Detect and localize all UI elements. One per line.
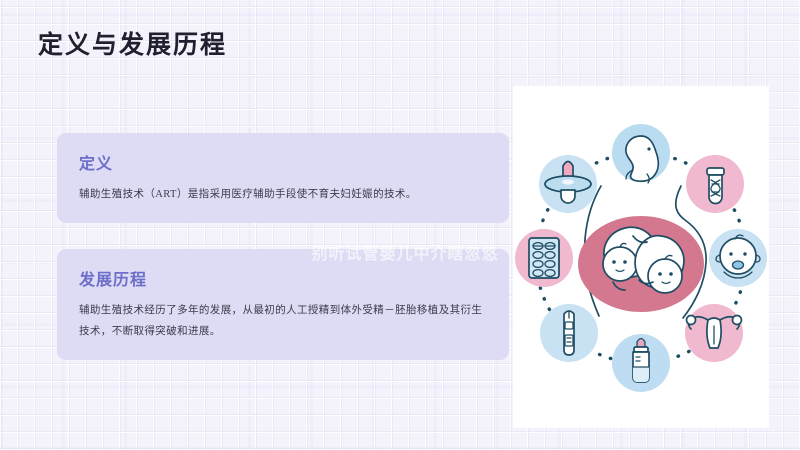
content-card-list: 定义 辅助生殖技术（ART）是指采用医疗辅助手段使不育夫妇妊娠的技术。 发展历程… xyxy=(57,133,509,360)
card-history-heading: 发展历程 xyxy=(79,266,487,290)
baby-face-icon[interactable] xyxy=(709,229,767,287)
uterus-icon[interactable] xyxy=(685,304,743,362)
slide-canvas: 定义与发展历程 定义 辅助生殖技术（ART）是指采用医疗辅助手段使不育夫妇妊娠的… xyxy=(0,0,800,450)
page-title: 定义与发展历程 xyxy=(38,30,227,63)
illustration-panel: .ln { fill:none; stroke:#1f4d63; stroke-… xyxy=(513,86,769,428)
card-definition-body: 辅助生殖技术（ART）是指采用医疗辅助手段使不育夫妇妊娠的技术。 xyxy=(79,185,487,205)
fetus-icon[interactable] xyxy=(612,124,670,183)
pill-blister-icon[interactable] xyxy=(515,229,573,287)
fertility-cycle-illustration: .ln { fill:none; stroke:#1f4d63; stroke-… xyxy=(513,86,769,428)
dna-test-tube-icon[interactable] xyxy=(686,155,744,213)
card-history: 发展历程 辅助生殖技术经历了多年的发展，从最初的人工授精到体外受精－胚胎移植及其… xyxy=(57,249,509,360)
card-definition-heading: 定义 xyxy=(79,150,487,174)
pregnancy-test-icon[interactable] xyxy=(540,304,598,362)
pacifier-icon[interactable] xyxy=(539,155,597,213)
baby-bottle-icon[interactable] xyxy=(612,334,670,392)
card-history-body: 辅助生殖技术经历了多年的发展，从最初的人工授精到体外受精－胚胎移植及其衍生技术，… xyxy=(79,301,487,342)
card-definition: 定义 辅助生殖技术（ART）是指采用医疗辅助手段使不育夫妇妊娠的技术。 xyxy=(57,133,509,223)
